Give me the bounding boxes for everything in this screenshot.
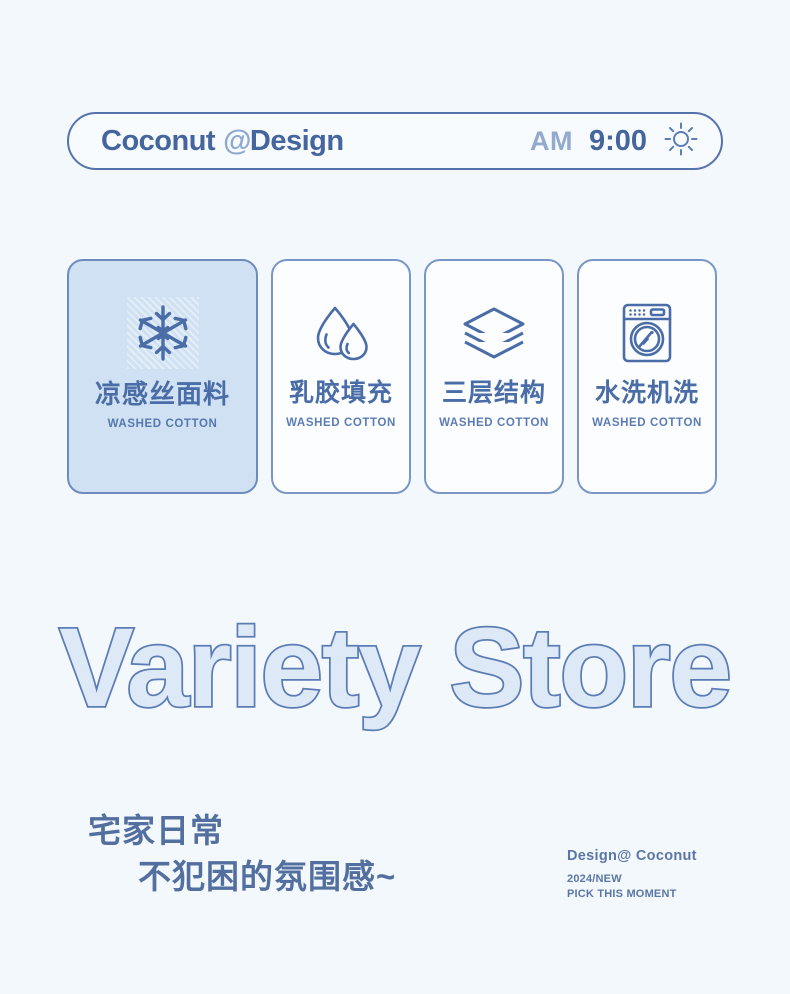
status-header-bar: Coconut @ Design AM 9:00 bbox=[67, 112, 723, 170]
layers-icon bbox=[461, 297, 527, 369]
tagline-line-1: 宅家日常 bbox=[88, 808, 396, 854]
at-symbol-icon: @ bbox=[223, 125, 251, 158]
hero-headline: Variety Store bbox=[0, 612, 790, 724]
feature-card-title: 水洗机洗 bbox=[595, 381, 699, 406]
feature-card-title: 乳胶填充 bbox=[289, 381, 393, 406]
feature-card-machine-wash[interactable]: 水洗机洗 WASHED COTTON bbox=[577, 259, 717, 494]
feature-card-latex-fill[interactable]: 乳胶填充 WASHED COTTON bbox=[271, 259, 411, 494]
feature-card-three-layer[interactable]: 三层结构 WASHED COTTON bbox=[424, 259, 564, 494]
feature-card-list: 凉感丝面料 WASHED COTTON 乳胶填充 WASHED COTTON 三… bbox=[67, 259, 723, 494]
credits-line-slogan: PICK THIS MOMENT bbox=[567, 887, 697, 902]
water-drops-icon bbox=[312, 297, 370, 369]
washing-machine-icon bbox=[618, 297, 676, 369]
brand-name-second: Design bbox=[250, 125, 344, 158]
feature-card-subtitle: WASHED COTTON bbox=[592, 417, 702, 429]
brand-logo: Coconut @ Design bbox=[101, 125, 344, 158]
feature-card-subtitle: WASHED COTTON bbox=[108, 418, 218, 430]
feature-card-subtitle: WASHED COTTON bbox=[439, 417, 549, 429]
header-status-group: AM 9:00 bbox=[530, 121, 699, 162]
credits-line-year: 2024/NEW bbox=[567, 872, 697, 887]
credits-title: Design@ Coconut bbox=[567, 848, 697, 864]
tagline-line-2: 不犯困的氛围感~ bbox=[138, 854, 396, 900]
feature-card-cooling-fabric[interactable]: 凉感丝面料 WASHED COTTON bbox=[67, 259, 258, 494]
snowflake-icon bbox=[127, 297, 199, 369]
brand-name-first: Coconut bbox=[101, 125, 215, 158]
feature-card-subtitle: WASHED COTTON bbox=[286, 417, 396, 429]
time-value: 9:00 bbox=[589, 125, 647, 158]
credits-block: Design@ Coconut 2024/NEW PICK THIS MOMEN… bbox=[567, 848, 697, 902]
time-meridiem: AM bbox=[530, 126, 573, 157]
sun-icon bbox=[663, 121, 699, 162]
feature-card-title: 三层结构 bbox=[442, 381, 546, 406]
snowflake-icon-pattern bbox=[127, 297, 199, 369]
hero-tagline: 宅家日常 不犯困的氛围感~ bbox=[88, 808, 396, 899]
feature-card-title: 凉感丝面料 bbox=[95, 381, 230, 407]
